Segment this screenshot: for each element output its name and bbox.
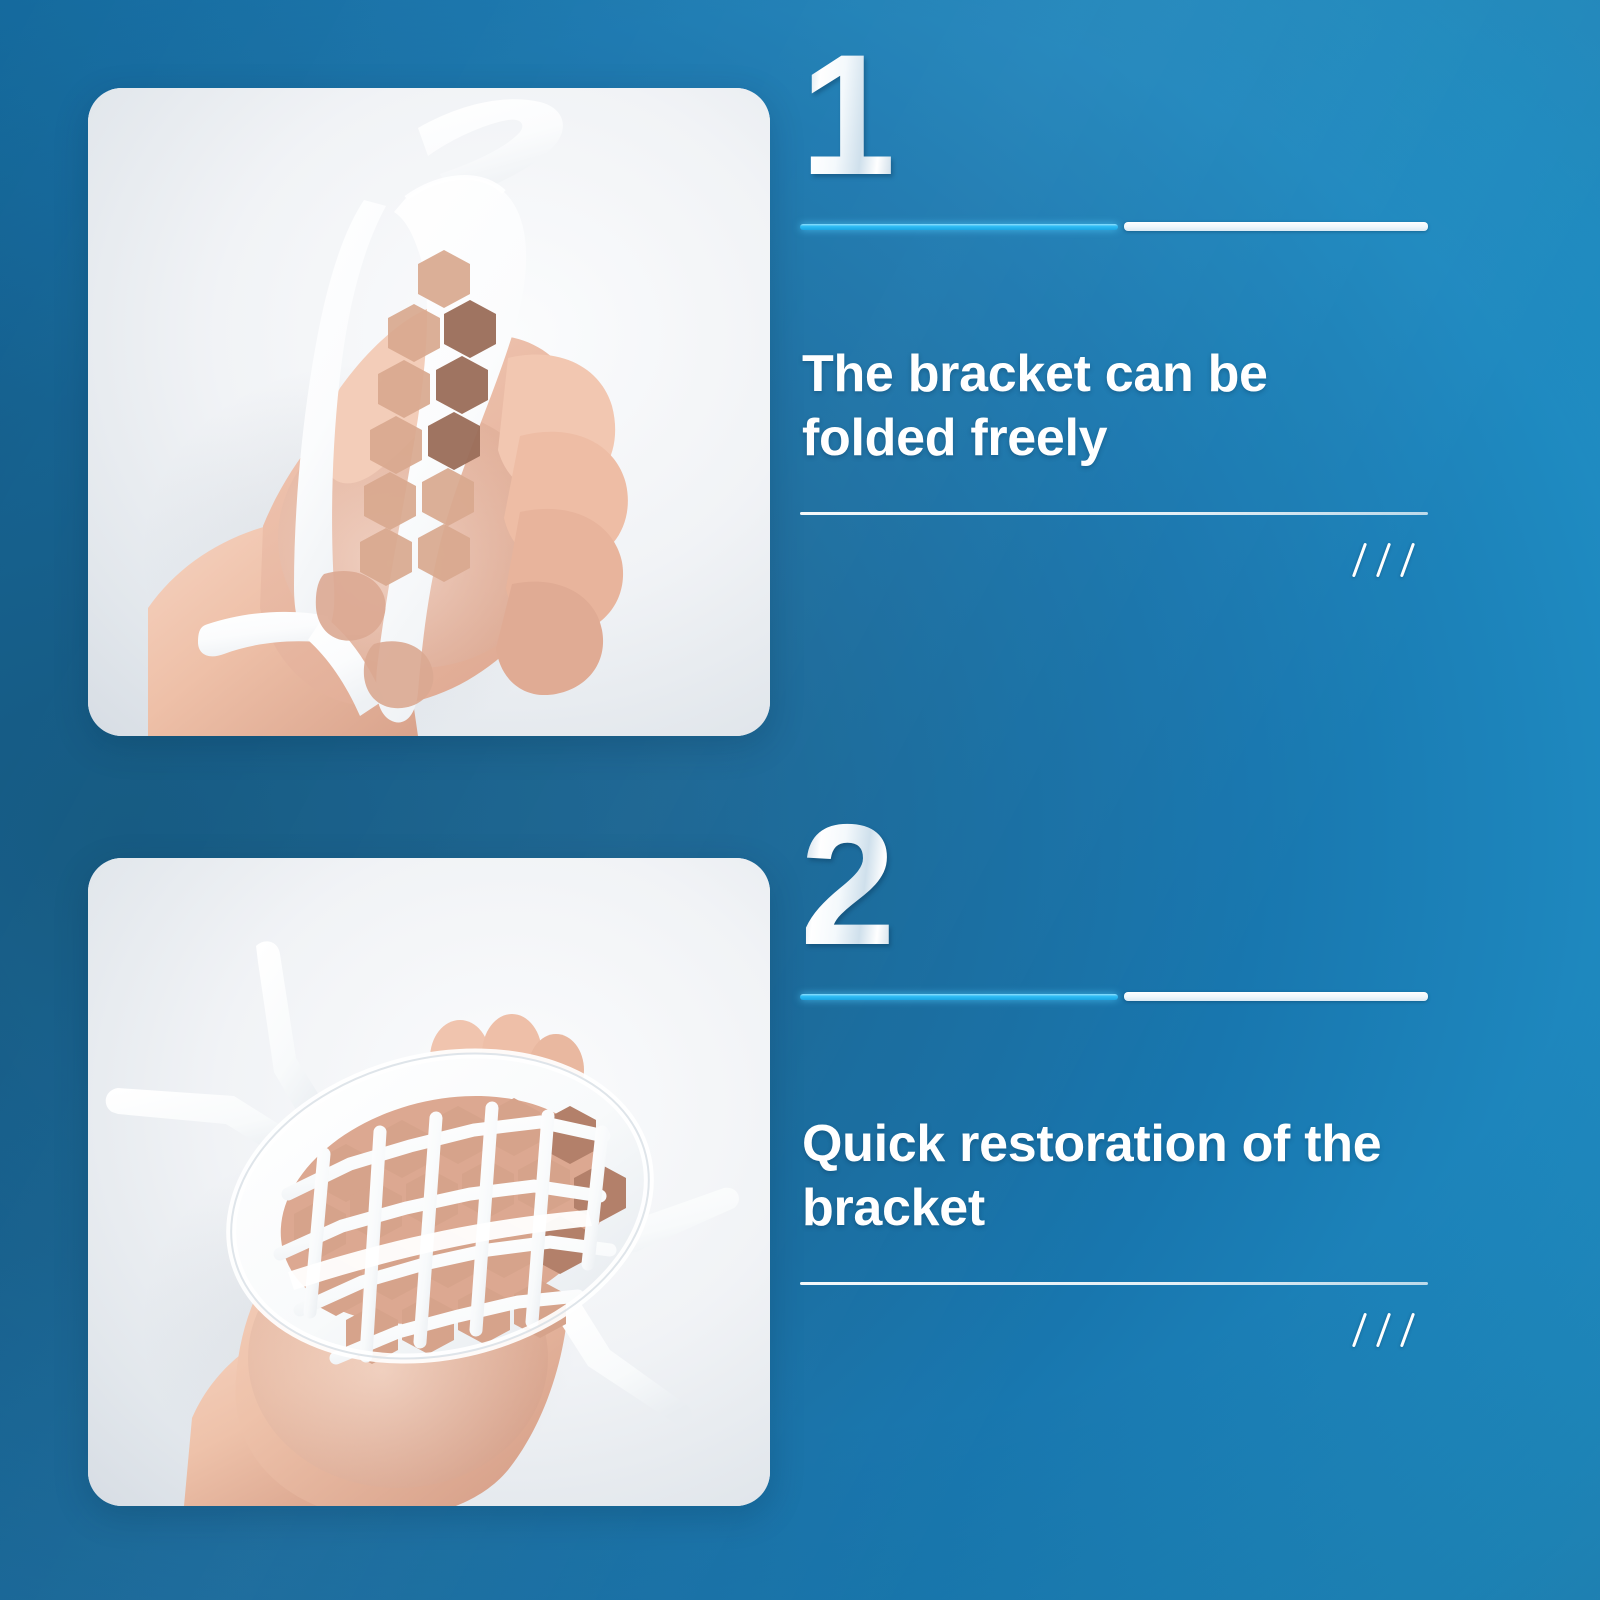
step-2-photo-card xyxy=(88,858,770,1506)
slash-stroke xyxy=(1352,543,1367,578)
poster-root: 1 The bracket can be folded freely xyxy=(0,0,1600,1600)
slash-stroke xyxy=(1400,1313,1415,1348)
step-2-divider-top xyxy=(800,992,1428,1001)
step-1-divider-top xyxy=(800,222,1428,231)
step-1-slash-mark xyxy=(1352,538,1428,582)
progress-segment-cyan xyxy=(800,994,1118,1000)
step-2-headline: Quick restoration of the bracket xyxy=(802,1113,1422,1240)
step-2-photo xyxy=(88,858,770,1506)
step-1-headline: The bracket can be folded freely xyxy=(802,343,1422,470)
slash-stroke xyxy=(1352,1313,1367,1348)
bracket-body-flat xyxy=(106,941,739,1425)
slash-stroke xyxy=(1400,543,1415,578)
step-2-divider-bottom xyxy=(800,1282,1428,1285)
step-block-1: 1 The bracket can be folded freely xyxy=(0,0,1600,770)
progress-segment-cyan xyxy=(800,224,1118,230)
step-1-photo xyxy=(88,88,770,736)
step-2-number: 2 xyxy=(800,808,894,963)
slash-stroke xyxy=(1376,1313,1391,1348)
step-2-text-column: 2 Quick restoration of the bracket xyxy=(800,770,1520,1540)
folded-bracket-illustration xyxy=(88,88,770,736)
slash-stroke xyxy=(1376,543,1391,578)
step-block-2: 2 Quick restoration of the bracket xyxy=(0,770,1600,1540)
step-2-slash-mark xyxy=(1352,1308,1428,1352)
progress-segment-white xyxy=(1124,222,1428,231)
step-1-number: 1 xyxy=(800,38,894,193)
step-1-photo-card xyxy=(88,88,770,736)
step-1-divider-bottom xyxy=(800,512,1428,515)
progress-segment-white xyxy=(1124,992,1428,1001)
step-1-text-column: 1 The bracket can be folded freely xyxy=(800,0,1520,770)
restored-bracket-illustration xyxy=(88,858,770,1506)
